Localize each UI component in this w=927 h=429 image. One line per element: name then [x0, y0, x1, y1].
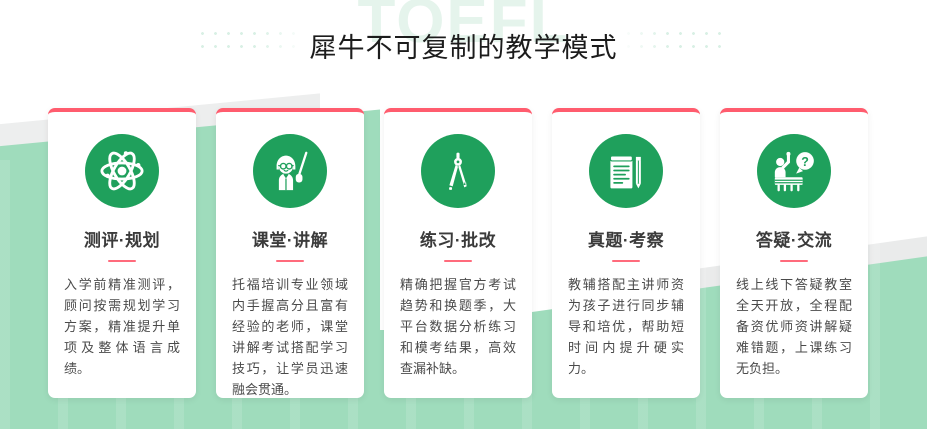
card-title-divider — [612, 260, 640, 262]
banner-header: TOEFL 犀牛不可复制的教学模式 — [0, 0, 927, 92]
feature-card-practice[interactable]: 练习·批改 精确把握官方考试趋势和换题季，大平台数据分析练习和模考结果，高效查漏… — [384, 108, 532, 398]
teacher-pointer-icon — [253, 134, 327, 208]
student-question-icon: ? — [757, 134, 831, 208]
compass-divider-icon — [421, 134, 495, 208]
card-title: 课堂·讲解 — [230, 226, 350, 251]
feature-card-exam[interactable]: 真题·考察 教辅搭配主讲师资为孩子进行同步辅导和培优，帮助短时间内提升硬实力。 — [552, 108, 700, 398]
feature-card-classroom[interactable]: 课堂·讲解 托福培训专业领域内手握高分且富有经验的老师，课堂讲解考试搭配学习技巧… — [216, 108, 364, 398]
atom-icon — [85, 134, 159, 208]
card-description: 入学前精准测评，顾问按需规划学习方案，精准提升单项及整体语言成绩。 — [62, 274, 182, 379]
card-title: 测评·规划 — [62, 226, 182, 251]
card-title-divider — [108, 260, 136, 262]
card-description: 精确把握官方考试趋势和换题季，大平台数据分析练习和模考结果，高效查漏补缺。 — [398, 274, 518, 379]
card-title-divider — [780, 260, 808, 262]
card-title: 真题·考察 — [566, 226, 686, 251]
notepad-pencil-icon — [589, 134, 663, 208]
card-title-divider — [444, 260, 472, 262]
feature-card-qa[interactable]: ? — [720, 108, 868, 398]
feature-card-list: 测评·规划 入学前精准测评，顾问按需规划学习方案，精准提升单项及整体语言成绩。 — [48, 108, 868, 398]
card-title: 答疑·交流 — [734, 226, 854, 251]
svg-text:?: ? — [801, 155, 809, 169]
card-title: 练习·批改 — [398, 226, 518, 251]
card-title-divider — [276, 260, 304, 262]
card-description: 托福培训专业领域内手握高分且富有经验的老师，课堂讲解考试搭配学习技巧，让学员迅速… — [230, 274, 350, 398]
promo-banner: TOEFL 犀牛不可复制的教学模式 测评·规划 入学前精准测评，顾问按需规 — [0, 0, 927, 429]
page-title: 犀牛不可复制的教学模式 — [0, 26, 927, 65]
feature-card-assessment[interactable]: 测评·规划 入学前精准测评，顾问按需规划学习方案，精准提升单项及整体语言成绩。 — [48, 108, 196, 398]
card-description: 教辅搭配主讲师资为孩子进行同步辅导和培优，帮助短时间内提升硬实力。 — [566, 274, 686, 379]
card-description: 线上线下答疑教室全天开放，全程配备资优师资讲解疑难错题，上课练习无负担。 — [734, 274, 854, 379]
